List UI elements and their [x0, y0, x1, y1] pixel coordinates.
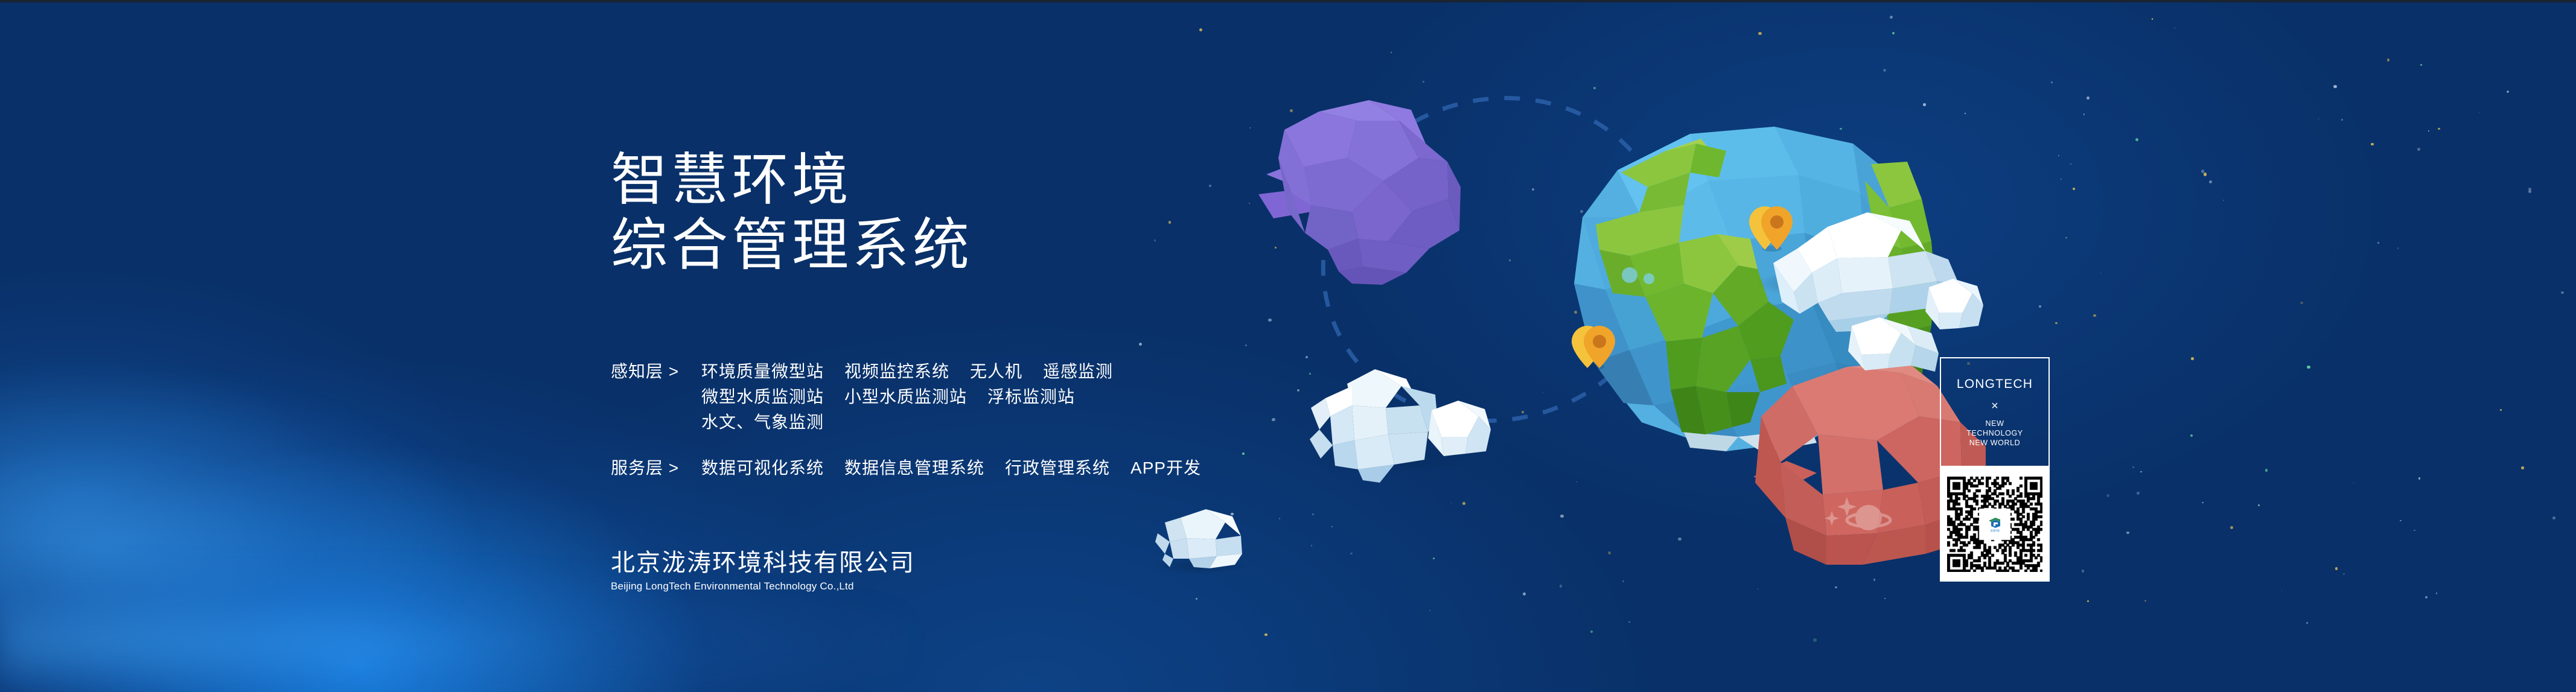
layer-item[interactable]: 水文、气象监测: [701, 410, 824, 435]
star-dot: [2082, 570, 2084, 572]
star-dot: [2371, 143, 2373, 145]
star-dot: [1306, 356, 1307, 358]
star-dot: [2132, 466, 2134, 468]
star-dot: [1878, 259, 1879, 261]
layer-item[interactable]: 数据信息管理系统: [844, 456, 984, 481]
star-dot: [2230, 526, 2233, 529]
star-dot: [2093, 314, 2096, 317]
card-cross-icon: ×: [1991, 396, 1998, 416]
star-dot: [1324, 151, 1327, 154]
page-title: 智慧环境 综合管理系统: [611, 147, 973, 278]
star-dot: [1139, 343, 1142, 346]
star-dot: [1890, 16, 1893, 19]
star-dot: [1209, 185, 1211, 187]
star-dot: [1154, 240, 1156, 241]
star-dot: [2191, 357, 2194, 360]
star-dot: [1532, 188, 1534, 191]
headline-line-2: 综合管理系统: [611, 212, 973, 278]
star-dot: [2414, 530, 2415, 531]
star-dot: [2258, 504, 2260, 506]
star-dot: [1357, 434, 1359, 437]
star-dot: [1242, 452, 1245, 455]
star-dot: [2223, 200, 2224, 201]
star-dot: [2418, 477, 2421, 480]
star-dot: [1884, 598, 1886, 599]
star-dot: [1443, 110, 1444, 111]
star-dot: [1803, 324, 1805, 325]
layer-items: 环境质量微型站视频监控系统无人机遥感监测微型水质监测站小型水质监测站浮标监测站水…: [701, 359, 1113, 435]
layer-item[interactable]: 环境质量微型站: [701, 359, 824, 384]
star-dot: [2400, 520, 2401, 521]
star-dot: [2438, 128, 2440, 130]
card-brand-panel: LONGTECH × NEW TECHNOLOGY NEW WORLD: [1940, 357, 2050, 467]
layer-item[interactable]: 浮标监测站: [987, 384, 1075, 410]
star-dot: [2377, 242, 2379, 244]
star-dot: [1758, 32, 1761, 35]
star-dot: [1813, 638, 1816, 641]
star-dot: [2341, 119, 2343, 121]
qr-center-logo: 泷涛环境: [1981, 511, 2008, 538]
star-dot: [2333, 85, 2336, 88]
top-edge-bar: [0, 0, 2576, 2]
star-dot: [2428, 130, 2429, 132]
layer-item-row: 微型水质监测站小型水质监测站浮标监测站: [701, 384, 1113, 410]
star-dot: [1168, 221, 1171, 223]
layer-group: 感知层 >环境质量微型站视频监控系统无人机遥感监测微型水质监测站小型水质监测站浮…: [611, 359, 1201, 435]
star-dot: [2144, 600, 2146, 602]
star-dot: [1892, 32, 1895, 34]
star-dot: [1272, 418, 1275, 421]
star-dot: [1608, 551, 1611, 554]
star-dot: [1433, 557, 1435, 559]
qr-logo-caption: 泷涛环境: [1990, 529, 2000, 532]
star-dot: [1590, 630, 1593, 633]
star-dot: [2201, 170, 2204, 173]
longtech-qr-card[interactable]: LONGTECH × NEW TECHNOLOGY NEW WORLD 泷涛环境: [1940, 357, 2050, 582]
star-dot: [1869, 416, 1872, 419]
star-dot: [1678, 538, 1681, 541]
card-tagline-line-2: TECHNOLOGY: [1966, 428, 2023, 438]
layer-item-row: 数据可视化系统数据信息管理系统行政管理系统APP开发: [701, 456, 1201, 481]
longtech-logo-icon: [1987, 516, 2003, 529]
star-dot: [2058, 155, 2059, 156]
star-dot: [1965, 113, 1966, 114]
star-dot: [2300, 302, 2303, 304]
card-tagline-line-1: NEW: [1966, 419, 2023, 428]
layer-items: 数据可视化系统数据信息管理系统行政管理系统APP开发: [701, 456, 1201, 481]
star-dot: [1310, 147, 1313, 150]
star-dot: [2436, 592, 2438, 594]
star-dot: [1268, 319, 1271, 322]
qr-code-panel[interactable]: 泷涛环境: [1940, 467, 2050, 582]
star-dot: [1873, 579, 1875, 580]
company-block: 北京泷涛环境科技有限公司 Beijing LongTech Environmen…: [611, 548, 915, 594]
card-tagline: NEW TECHNOLOGY NEW WORLD: [1966, 419, 2023, 448]
star-dot: [2039, 305, 2041, 307]
star-dot: [2521, 466, 2524, 469]
star-dot: [1622, 580, 1624, 582]
layer-key-label: 感知层 >: [611, 359, 701, 384]
layer-item[interactable]: 无人机: [970, 359, 1022, 384]
star-dot: [1560, 585, 1562, 587]
layer-item[interactable]: 遥感监测: [1043, 359, 1113, 384]
star-dot: [1574, 311, 1577, 314]
banner-root: 智慧环境 综合管理系统 感知层 >环境质量微型站视频监控系统无人机遥感监测微型水…: [0, 0, 2576, 692]
star-dot: [1312, 513, 1314, 515]
star-dot: [2500, 409, 2502, 411]
layer-group: 服务层 >数据可视化系统数据信息管理系统行政管理系统APP开发: [611, 456, 1201, 481]
company-name-en: Beijing LongTech Environmental Technolog…: [611, 579, 915, 594]
star-dot: [1923, 103, 1926, 106]
company-name-cn: 北京泷涛环境科技有限公司: [611, 548, 915, 578]
card-brand-label: LONGTECH: [1957, 376, 2033, 392]
star-dot: [2055, 322, 2057, 324]
layer-item[interactable]: 行政管理系统: [1005, 456, 1110, 481]
star-dot: [1628, 621, 1630, 623]
star-dot: [1560, 515, 1563, 518]
layer-item-row: 水文、气象监测: [701, 410, 1113, 435]
star-dot: [2152, 18, 2154, 20]
layer-key-label: 服务层 >: [611, 456, 701, 481]
star-dot: [1870, 320, 1873, 323]
star-dot: [2137, 492, 2140, 495]
star-dot: [2087, 97, 2090, 100]
star-dot: [2083, 113, 2085, 115]
star-dot: [2507, 90, 2509, 93]
layer-item[interactable]: 微型水质监测站: [701, 384, 824, 410]
layer-item[interactable]: 数据可视化系统: [701, 456, 824, 481]
star-dot: [1835, 586, 1837, 588]
star-dot: [2204, 173, 2207, 176]
star-dot: [1522, 411, 1524, 413]
layer-item[interactable]: 小型水质监测站: [844, 384, 967, 410]
star-dot: [2126, 532, 2129, 534]
star-dot: [1279, 518, 1281, 519]
card-tagline-line-3: NEW WORLD: [1966, 438, 2023, 448]
layer-list: 感知层 >环境质量微型站视频监控系统无人机遥感监测微型水质监测站小型水质监测站浮…: [611, 359, 1201, 501]
layer-item[interactable]: APP开发: [1130, 456, 1201, 481]
headline-line-1: 智慧环境: [611, 147, 973, 212]
star-dot: [2552, 516, 2555, 519]
layer-item-row: 环境质量微型站视频监控系统无人机遥感监测: [701, 359, 1113, 384]
star-dot: [1865, 454, 1868, 457]
layer-item[interactable]: 视频监控系统: [844, 359, 949, 384]
star-dot: [2135, 138, 2138, 141]
star-dot: [2425, 596, 2428, 598]
